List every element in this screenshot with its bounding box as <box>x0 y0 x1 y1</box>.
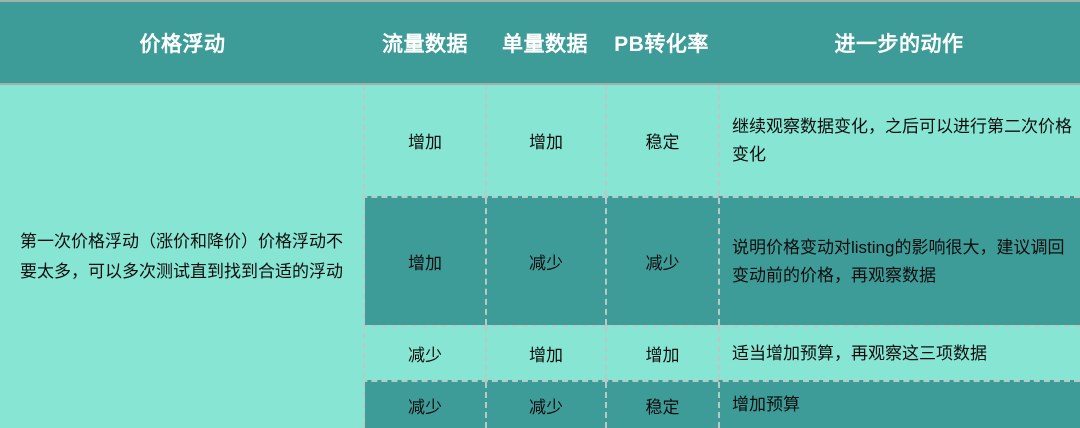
header-cell-pb-conversion-rate: PB转化率 <box>605 28 718 58</box>
table-body: 第一次价格浮动（涨价和降价）价格浮动不要太多，可以多次测试直到找到合适的浮动 增… <box>0 85 1080 428</box>
cell-order-data: 增加 <box>485 327 605 380</box>
cell-pb-conversion-rate: 稳定 <box>605 85 718 196</box>
table-header-row: 价格浮动 流量数据 单量数据 PB转化率 进一步的动作 <box>0 2 1080 85</box>
cell-traffic-data: 增加 <box>365 85 485 196</box>
price-fluctuation-table: 价格浮动 流量数据 单量数据 PB转化率 进一步的动作 第一次价格浮动（涨价和降… <box>0 0 1080 428</box>
cell-order-data: 增加 <box>485 85 605 196</box>
cell-order-data: 减少 <box>485 198 605 325</box>
cell-traffic-data: 减少 <box>365 327 485 380</box>
header-cell-condition: 价格浮动 <box>0 28 365 58</box>
cell-next-action: 适当增加预算，再观察这三项数据 <box>718 327 1080 380</box>
header-cell-traffic-data: 流量数据 <box>365 28 485 58</box>
cell-pb-conversion-rate: 减少 <box>605 198 718 325</box>
cell-next-action: 说明价格变动对listing的影响很大，建议调回变动前的价格，再观察数据 <box>718 198 1080 325</box>
cell-next-action: 增加预算 <box>718 382 1080 428</box>
cell-pb-conversion-rate: 稳定 <box>605 382 718 428</box>
header-cell-next-action: 进一步的动作 <box>718 28 1080 58</box>
condition-cell-merged: 第一次价格浮动（涨价和降价）价格浮动不要太多，可以多次测试直到找到合适的浮动 <box>0 85 365 428</box>
cell-traffic-data: 增加 <box>365 198 485 325</box>
cell-order-data: 减少 <box>485 382 605 428</box>
cell-traffic-data: 减少 <box>365 382 485 428</box>
header-cell-order-data: 单量数据 <box>485 28 605 58</box>
cell-next-action: 继续观察数据变化，之后可以进行第二次价格变化 <box>718 85 1080 196</box>
cell-pb-conversion-rate: 增加 <box>605 327 718 380</box>
